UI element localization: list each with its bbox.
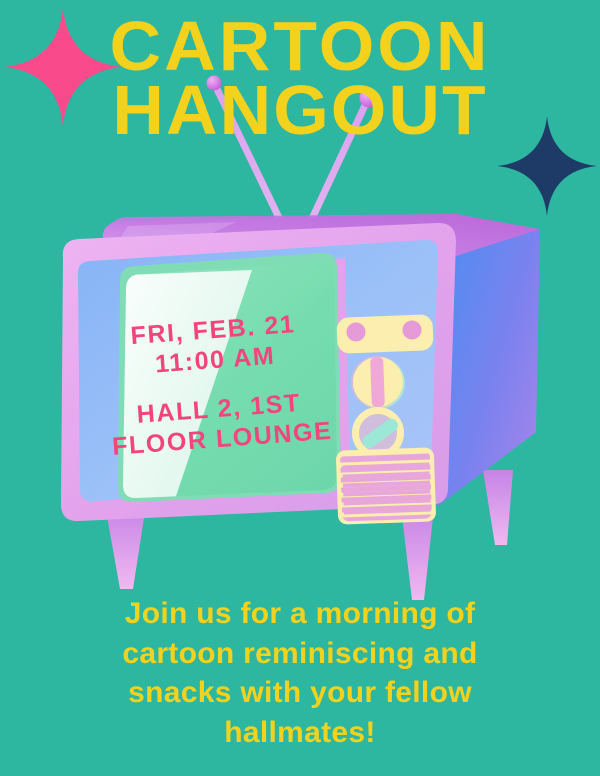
indicator-lamp-right — [403, 321, 422, 340]
tv-screen — [118, 253, 341, 520]
television-illustration — [0, 0, 600, 776]
poster-canvas: CARTOON HANGOUT FRI, FEB. 21 11:00 AM HA… — [0, 0, 600, 776]
indicator-lamp-left — [347, 323, 366, 342]
speaker-grille — [336, 447, 437, 524]
